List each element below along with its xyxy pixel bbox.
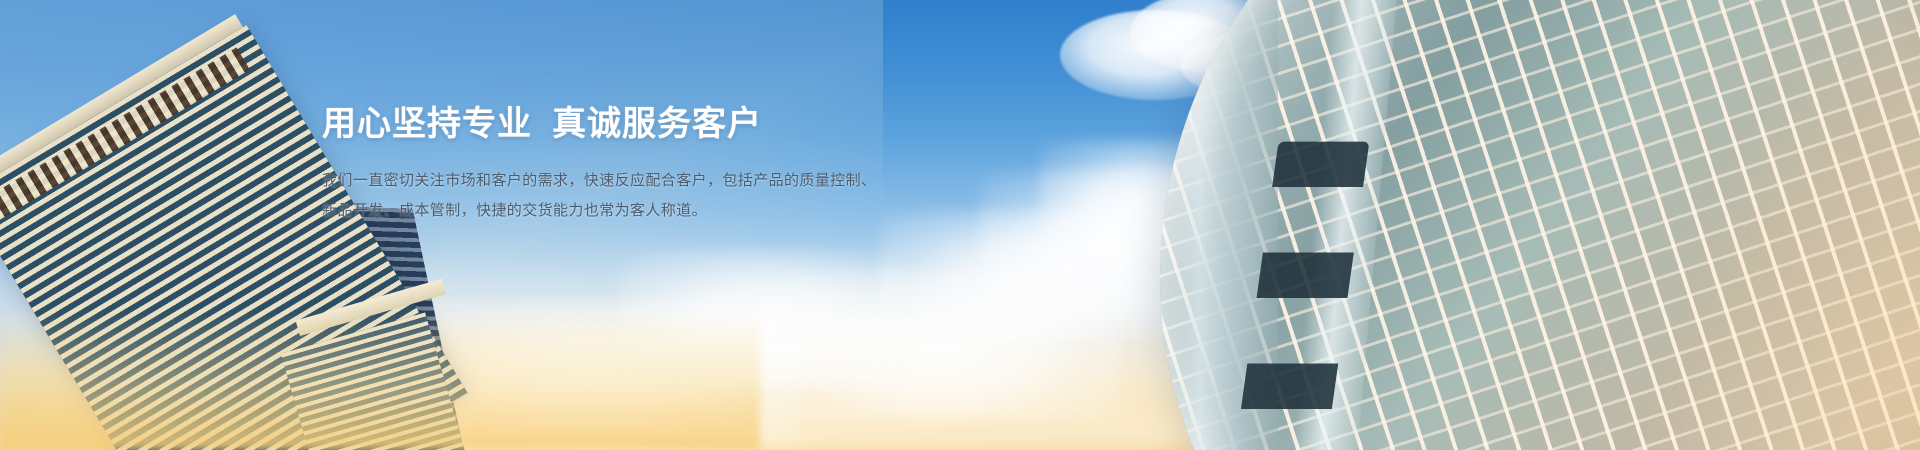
banner-description: 我们一直密切关注市场和客户的需求，快速反应配合客户，包括产品的质量控制、 新品开… bbox=[322, 166, 942, 226]
description-line-1: 我们一直密切关注市场和客户的需求，快速反应配合客户，包括产品的质量控制、 bbox=[322, 166, 942, 196]
curved-glass-tower bbox=[1160, 0, 1920, 450]
tower-edge-shading bbox=[1160, 0, 1920, 450]
foreground-warm-glow bbox=[0, 310, 760, 450]
description-line-2: 新品开发、成本管制，快捷的交货能力也常为客人称道。 bbox=[322, 196, 942, 226]
page-title: 用心坚持专业真诚服务客户 bbox=[322, 104, 942, 144]
hero-banner: 用心坚持专业真诚服务客户 我们一直密切关注市场和客户的需求，快速反应配合客户，包… bbox=[0, 0, 1920, 450]
banner-copy-block: 用心坚持专业真诚服务客户 我们一直密切关注市场和客户的需求，快速反应配合客户，包… bbox=[322, 104, 942, 226]
headline-part-1: 用心坚持专业 bbox=[322, 105, 532, 143]
headline-part-2: 真诚服务客户 bbox=[552, 105, 762, 143]
